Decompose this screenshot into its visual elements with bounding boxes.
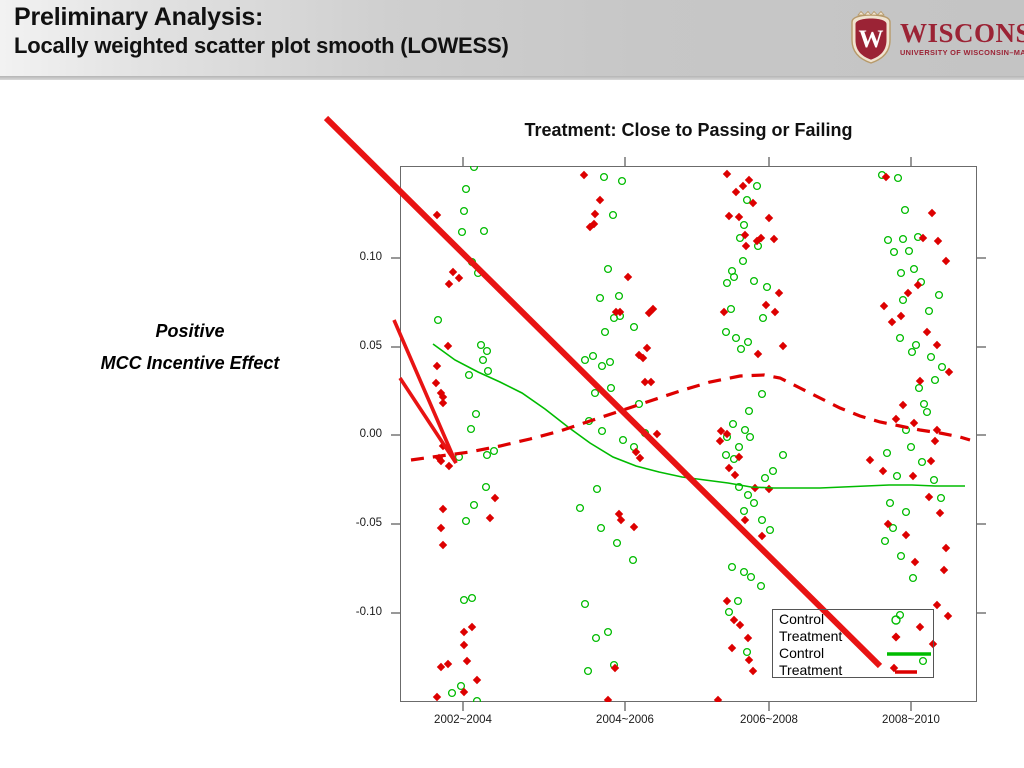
uw-crest-icon: W xyxy=(848,10,894,66)
y-axis-tick-label: 0.10 xyxy=(330,251,382,263)
uw-madison-logo: W WISCONSIN UNIVERSITY OF WISCONSIN–MADI… xyxy=(848,8,1016,68)
open-circle-icon xyxy=(887,612,935,629)
svg-text:W: W xyxy=(859,26,884,53)
slide-header: Preliminary Analysis: Locally weighted s… xyxy=(0,0,1024,82)
uw-logo-subtitle: UNIVERSITY OF WISCONSIN–MADISON xyxy=(900,49,1024,56)
y-axis-tick-label: 0.05 xyxy=(330,340,382,352)
uw-wordmark: WISCONSIN xyxy=(900,20,1024,47)
header-title-block: Preliminary Analysis: Locally weighted s… xyxy=(14,2,754,59)
annotation-line-2: MCC Incentive Effect xyxy=(40,348,340,380)
page-subtitle: Locally weighted scatter plot smooth (LO… xyxy=(14,33,754,60)
legend-item[interactable]: Treatment xyxy=(779,629,929,646)
y-axis-tick-label: -0.10 xyxy=(330,606,382,618)
filled-diamond-icon xyxy=(887,629,935,646)
page-title: Preliminary Analysis: xyxy=(14,2,754,33)
effect-annotation: Positive MCC Incentive Effect xyxy=(40,316,340,379)
annotation-line-1: Positive xyxy=(40,316,340,348)
legend-item-label: Treatment xyxy=(779,662,842,678)
x-axis-tick-label: 2002~2004 xyxy=(403,714,523,726)
y-axis-tick-label: 0.00 xyxy=(330,428,382,440)
legend-item[interactable]: Control xyxy=(779,612,929,629)
chart-legend: ControlTreatmentControlTreatment xyxy=(772,609,934,678)
solid-line-icon xyxy=(887,646,935,663)
legend-item[interactable]: Treatment xyxy=(779,663,929,680)
legend-item-label: Control xyxy=(779,645,824,661)
uw-logo-text: WISCONSIN UNIVERSITY OF WISCONSIN–MADISO… xyxy=(900,20,1024,56)
chart-title: Treatment: Close to Passing or Failing xyxy=(400,120,977,141)
x-axis-tick-label: 2008~2010 xyxy=(851,714,971,726)
legend-item-label: Control xyxy=(779,611,824,627)
y-axis-tick-label: -0.05 xyxy=(330,517,382,529)
legend-item[interactable]: Control xyxy=(779,646,929,663)
legend-item-label: Treatment xyxy=(779,628,842,644)
x-axis-tick-label: 2006~2008 xyxy=(709,714,829,726)
x-axis-tick-label: 2004~2006 xyxy=(565,714,685,726)
dashed-line-icon xyxy=(887,663,935,680)
